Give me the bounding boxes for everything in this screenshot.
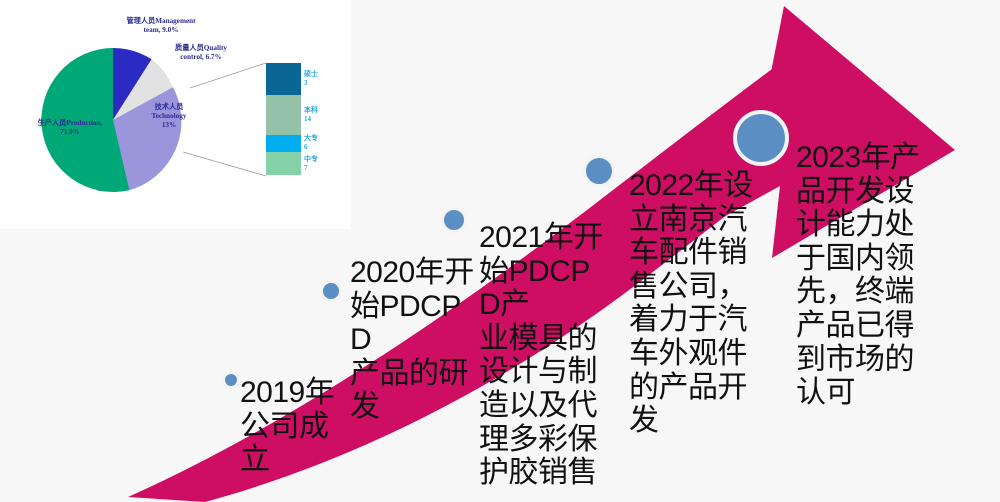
bar-label-vocational: 中专 7	[304, 155, 318, 173]
milestone-label-2020: 2020年开 始PDCPD 产品的研 发	[350, 256, 474, 424]
bar-segment-bachelor	[266, 95, 301, 135]
pie-label-management-team: 管理人员Management team, 9.0%	[110, 17, 212, 35]
milestone-label-2019: 2019年 公司成 立	[240, 376, 336, 477]
pie-label-technology: 技术人员 Technology 13%	[138, 103, 200, 131]
slide-canvas: 2019年 公司成 立 2020年开 始PDCPD 产品的研 发 2021年开 …	[0, 0, 1000, 502]
milestone-dot-2019[interactable]	[222, 371, 240, 389]
bar-label-college: 大专 6	[304, 134, 318, 152]
callout-line-bottom	[183, 152, 266, 176]
milestone-label-2022: 2022年设 立南京汽 车配件销 售公司， 着力于汽 车外观件 的产品开 发	[629, 169, 753, 438]
milestone-dot-2022[interactable]	[583, 155, 615, 187]
milestone-label-2023: 2023年产 品开发设 计能力处 于国内领 先，终端 产品已得 到市场的 认可	[796, 141, 920, 410]
bar-segment-vocational	[266, 152, 301, 175]
bar-label-master: 硕士 3	[304, 70, 318, 88]
bar-segment-master	[266, 63, 301, 95]
milestone-label-2021: 2021年开 始PDCPD产 业模具的 设计与制 造以及代 理多彩保 护胶销售	[479, 221, 603, 490]
staff-composition-panel: 生产人员Production, 71.9% 技术人员 Technology 13…	[0, 0, 351, 229]
milestone-dot-2020[interactable]	[320, 280, 342, 302]
milestone-dot-2021[interactable]	[441, 207, 467, 233]
milestone-dot-2023[interactable]	[733, 110, 789, 166]
callout-line-top	[190, 63, 266, 88]
education-stacked-bar	[266, 63, 301, 175]
bar-label-bachelor: 本科 14	[304, 106, 318, 124]
bar-segment-college	[266, 135, 301, 152]
pie-label-quality-control: 质量人员Quality control, 6.7%	[159, 44, 243, 62]
pie-label-production: 生产人员Production, 71.9%	[27, 119, 113, 137]
